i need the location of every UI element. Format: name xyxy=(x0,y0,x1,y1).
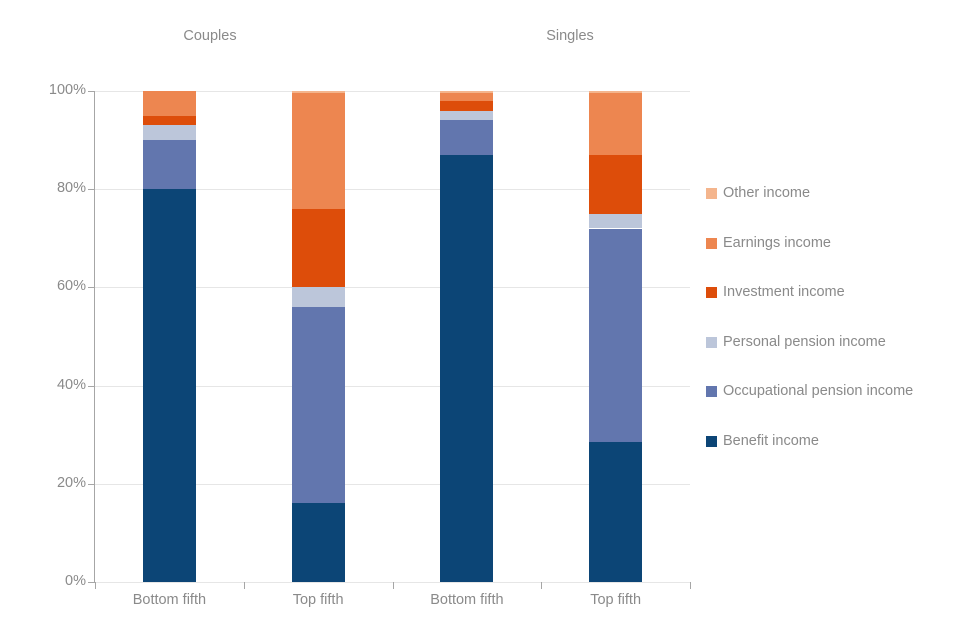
bar-segment-occupational-pension-income[interactable] xyxy=(589,229,642,443)
y-axis: 0%20%40%60%80%100% xyxy=(0,0,86,640)
bar-3[interactable] xyxy=(589,91,642,582)
group-header-couples: Couples xyxy=(120,28,300,44)
legend-label: Benefit income xyxy=(723,433,819,450)
legend-item-occupational-pension-income[interactable]: Occupational pension income xyxy=(706,383,956,433)
legend-item-investment-income[interactable]: Investment income xyxy=(706,284,956,334)
bar-segment-investment-income[interactable] xyxy=(292,209,345,288)
x-tick-mark xyxy=(690,582,691,589)
bar-segment-occupational-pension-income[interactable] xyxy=(143,140,196,189)
legend-label: Personal pension income xyxy=(723,334,886,351)
x-tick-label-1: Top fifth xyxy=(244,592,393,608)
bar-segment-other-income[interactable] xyxy=(292,91,345,93)
x-tick-label-3: Top fifth xyxy=(541,592,690,608)
x-tick-mark xyxy=(393,582,394,589)
legend-swatch-icon xyxy=(706,337,717,348)
legend-label: Other income xyxy=(723,185,810,202)
y-tick-mark xyxy=(88,91,94,92)
y-tick-label: 20% xyxy=(0,475,86,491)
bar-segment-personal-pension-income[interactable] xyxy=(589,214,642,229)
legend-item-earnings-income[interactable]: Earnings income xyxy=(706,235,956,285)
bar-1[interactable] xyxy=(292,91,345,582)
bar-segment-other-income[interactable] xyxy=(440,91,493,93)
y-tick-label: 80% xyxy=(0,180,86,196)
x-tick-mark xyxy=(541,582,542,589)
x-tick-label-0: Bottom fifth xyxy=(95,592,244,608)
y-tick-mark xyxy=(88,484,94,485)
bar-segment-personal-pension-income[interactable] xyxy=(143,125,196,140)
y-tick-mark xyxy=(88,287,94,288)
bar-segment-earnings-income[interactable] xyxy=(440,93,493,100)
bar-segment-earnings-income[interactable] xyxy=(292,93,345,208)
x-tick-label-2: Bottom fifth xyxy=(393,592,542,608)
bar-segment-investment-income[interactable] xyxy=(589,155,642,214)
bar-segment-benefit-income[interactable] xyxy=(143,189,196,582)
legend-swatch-icon xyxy=(706,238,717,249)
plot-area xyxy=(95,91,690,582)
legend-label: Investment income xyxy=(723,284,845,301)
chart-legend: Other incomeEarnings incomeInvestment in… xyxy=(706,185,956,483)
bar-segment-other-income[interactable] xyxy=(589,91,642,93)
bar-0[interactable] xyxy=(143,91,196,582)
stacked-bar-chart: Couples Singles 0%20%40%60%80%100% Botto… xyxy=(0,0,960,640)
x-tick-mark xyxy=(244,582,245,589)
y-tick-label: 100% xyxy=(0,82,86,98)
y-tick-mark xyxy=(88,189,94,190)
bar-segment-benefit-income[interactable] xyxy=(589,442,642,582)
bar-segment-benefit-income[interactable] xyxy=(440,155,493,582)
bar-segment-earnings-income[interactable] xyxy=(589,93,642,154)
legend-swatch-icon xyxy=(706,287,717,298)
bar-segment-earnings-income[interactable] xyxy=(143,91,196,116)
legend-item-benefit-income[interactable]: Benefit income xyxy=(706,433,956,483)
bar-segment-occupational-pension-income[interactable] xyxy=(292,307,345,503)
bar-segment-investment-income[interactable] xyxy=(143,116,196,126)
legend-swatch-icon xyxy=(706,188,717,199)
y-tick-mark xyxy=(88,582,94,583)
bar-segment-benefit-income[interactable] xyxy=(292,503,345,582)
bar-2[interactable] xyxy=(440,91,493,582)
legend-label: Occupational pension income xyxy=(723,383,913,400)
x-tick-mark xyxy=(95,582,96,589)
bar-segment-personal-pension-income[interactable] xyxy=(292,287,345,307)
bar-segment-investment-income[interactable] xyxy=(440,101,493,111)
legend-label: Earnings income xyxy=(723,235,831,252)
legend-swatch-icon xyxy=(706,386,717,397)
bar-segment-personal-pension-income[interactable] xyxy=(440,111,493,121)
y-tick-label: 60% xyxy=(0,278,86,294)
legend-item-personal-pension-income[interactable]: Personal pension income xyxy=(706,334,956,384)
legend-swatch-icon xyxy=(706,436,717,447)
legend-item-other-income[interactable]: Other income xyxy=(706,185,956,235)
y-tick-label: 40% xyxy=(0,377,86,393)
y-tick-label: 0% xyxy=(0,573,86,589)
y-tick-mark xyxy=(88,386,94,387)
group-header-singles: Singles xyxy=(480,28,660,44)
bar-segment-occupational-pension-income[interactable] xyxy=(440,120,493,154)
